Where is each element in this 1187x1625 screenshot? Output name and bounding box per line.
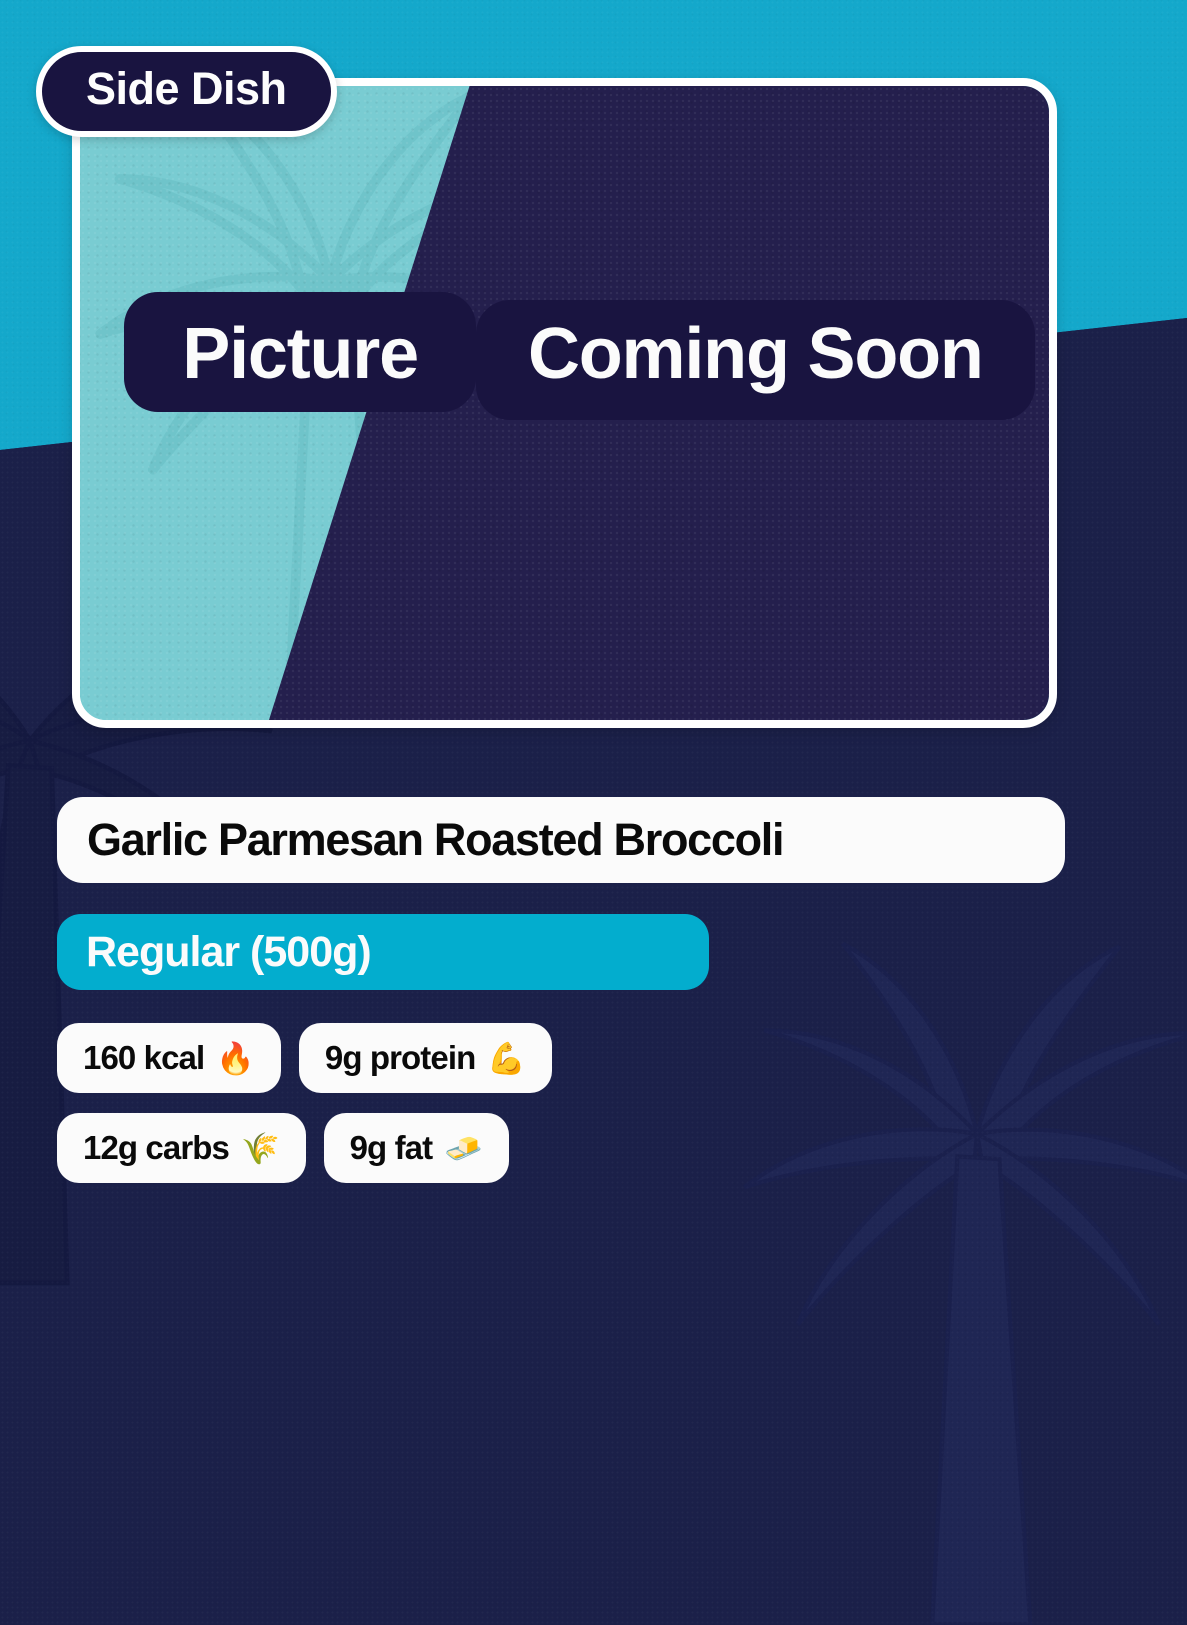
picture-coming-soon-badge: Picture Coming Soon (80, 292, 1049, 420)
nutrition-label: 12g carbs (83, 1129, 229, 1167)
nutrition-pill-protein: 9g protein 💪 (299, 1023, 552, 1093)
dish-title-card: Garlic Parmesan Roasted Broccoli (57, 797, 1065, 883)
recipe-card-poster: Picture Coming Soon Side Dish Garlic Par… (0, 0, 1187, 1625)
coming-soon-line-1: Picture (124, 292, 476, 412)
page-title: Garlic Parmesan Roasted Broccoli (87, 814, 783, 866)
coming-soon-line-2: Coming Soon (476, 300, 1035, 420)
nutrition-label: 9g fat (350, 1129, 433, 1167)
sheaf-of-rice-emoji: 🌾 (241, 1133, 280, 1164)
portion-size-badge: Regular (500g) (57, 914, 709, 990)
nutrition-pill-calories: 160 kcal 🔥 (57, 1023, 281, 1093)
nutrition-label: 160 kcal (83, 1039, 204, 1077)
nutrition-row: 12g carbs 🌾 9g fat 🧈 (57, 1113, 717, 1183)
hero-image-card[interactable]: Picture Coming Soon (72, 78, 1057, 728)
category-badge: Side Dish (36, 46, 337, 137)
nutrition-row: 160 kcal 🔥 9g protein 💪 (57, 1023, 717, 1093)
flexed-biceps-emoji: 💪 (487, 1043, 526, 1074)
nutrition-pill-carbs: 12g carbs 🌾 (57, 1113, 306, 1183)
butter-emoji: 🧈 (444, 1133, 483, 1164)
nutrition-pill-fat: 9g fat 🧈 (324, 1113, 509, 1183)
portion-size-label: Regular (500g) (86, 928, 371, 977)
nutrition-facts-grid: 160 kcal 🔥 9g protein 💪 12g carbs 🌾 9g f… (57, 1023, 717, 1203)
nutrition-label: 9g protein (325, 1039, 476, 1077)
fire-emoji: 🔥 (216, 1043, 255, 1074)
